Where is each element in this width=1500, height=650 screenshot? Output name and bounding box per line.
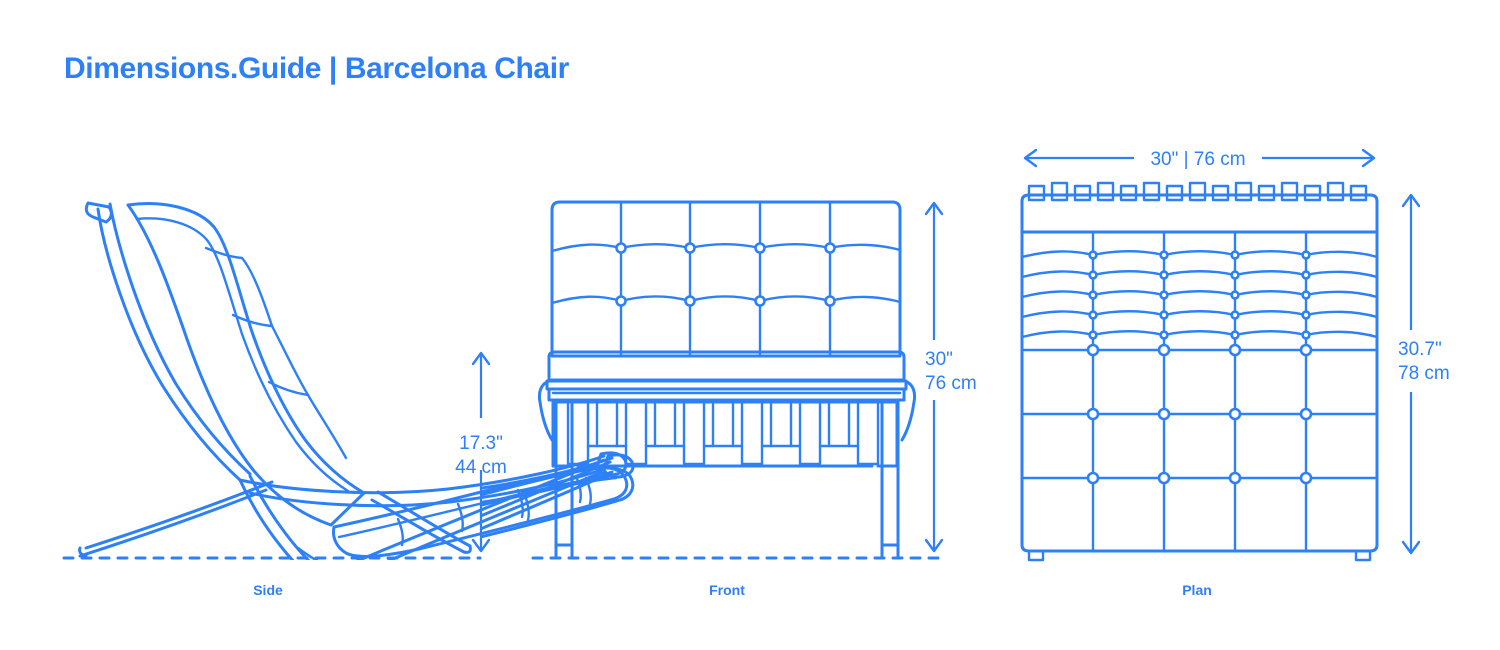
dimension-seat-height-metric: 44 cm (455, 456, 507, 480)
view-label-plan: Plan (1182, 582, 1212, 598)
plan-strap-tabs (1029, 183, 1366, 200)
dimension-overall-height-imperial: 30" (925, 348, 977, 372)
dimension-label-overall-width: 30" | 76 cm (1150, 148, 1245, 172)
dimension-label-overall-height: 30" 76 cm (925, 348, 977, 396)
plan-view-drawing (1022, 183, 1377, 560)
view-label-front: Front (709, 582, 745, 598)
dimension-overall-depth-metric: 78 cm (1398, 362, 1450, 386)
technical-drawing-canvas (0, 0, 1500, 650)
dimension-seat-height-imperial: 17.3" (455, 432, 507, 456)
dimension-overall-depth-imperial: 30.7" (1398, 338, 1450, 362)
dimension-label-seat-height: 17.3" 44 cm (455, 432, 507, 480)
dimension-label-overall-depth: 30.7" 78 cm (1398, 338, 1450, 386)
view-label-side: Side (253, 582, 283, 598)
dimension-overall-height-metric: 76 cm (925, 372, 977, 396)
